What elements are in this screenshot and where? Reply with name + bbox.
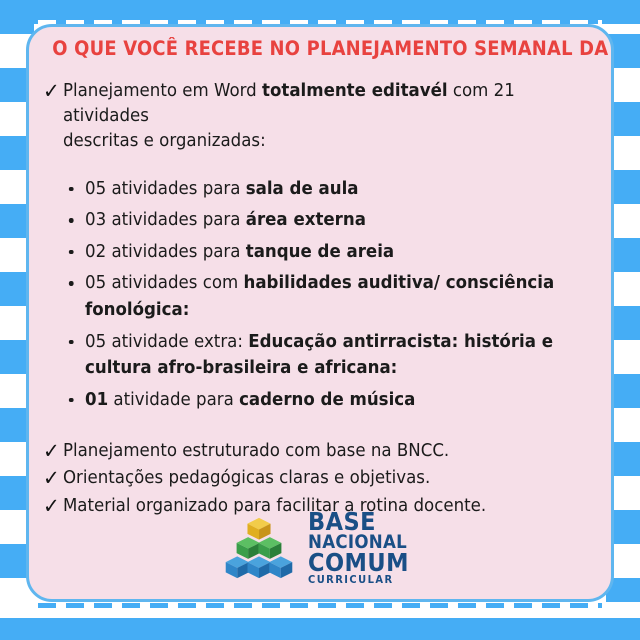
intro-part1: Planejamento em Word (63, 81, 262, 101)
intro-line: ✓ Planejamento em Word totalmente editav… (43, 79, 573, 154)
page-title: O QUE VOCÊ RECEBE NO PLANEJAMENTO SEMANA… (52, 37, 587, 60)
bullet-plain-before: 05 atividades para (85, 179, 246, 199)
bullet-bold: caderno de música (239, 390, 415, 410)
bncc-cube-pyramid-icon (220, 516, 298, 580)
bncc-logo-wordmark: BASE NACIONAL COMUM CURRICULAR (308, 510, 409, 585)
list-item: 03 atividades para área externa (85, 207, 575, 234)
benefit-line: ✓ Orientações pedagógicas claras e objet… (43, 466, 573, 491)
list-item: 05 atividades com habilidades auditiva/ … (85, 270, 575, 323)
bullet-plain-before: 03 atividades para (85, 210, 246, 230)
benefit-text: Orientações pedagógicas claras e objetiv… (63, 466, 573, 491)
poster-canvas: O QUE VOCÊ RECEBE NO PLANEJAMENTO SEMANA… (0, 0, 640, 640)
logo-line-comum: COMUM (308, 551, 409, 575)
intro-bold1: totalmente editavél (262, 81, 448, 101)
intro-line2: descritas e organizadas: (63, 131, 266, 151)
intro-block: ✓ Planejamento em Word totalmente editav… (43, 79, 601, 154)
bullet-plain-before: 05 atividade extra: (85, 332, 248, 352)
check-mark-icon: ✓ (43, 79, 62, 104)
list-item: 02 atividades para tanque de areia (85, 239, 575, 266)
bullet-bold: área externa (246, 210, 366, 230)
bncc-logo: BASE NACIONAL COMUM CURRICULAR (29, 510, 611, 585)
bullet-plain-before: 05 atividades com (85, 273, 243, 293)
bullet-plain-before: 02 atividades para (85, 242, 246, 262)
list-item: 05 atividade extra: Educação antirracist… (85, 329, 575, 382)
content-card: O QUE VOCÊ RECEBE NO PLANEJAMENTO SEMANA… (26, 24, 614, 602)
bottom-blue-band (0, 618, 640, 640)
check-mark-icon: ✓ (43, 466, 62, 491)
benefit-line: ✓ Planejamento estruturado com base na B… (43, 439, 573, 464)
bullet-bold-lead: 01 (85, 390, 108, 410)
intro-text: Planejamento em Word totalmente editavél… (63, 79, 573, 154)
list-item: 05 atividades para sala de aula (85, 176, 575, 203)
bottom-dashed-line (38, 603, 602, 608)
bullet-bold: tanque de areia (246, 242, 394, 262)
card-body: ✓ Planejamento em Word totalmente editav… (29, 79, 614, 521)
activities-list: 05 atividades para sala de aula 03 ativi… (43, 176, 601, 414)
logo-line-base: BASE (308, 510, 409, 534)
benefit-text: Planejamento estruturado com base na BNC… (63, 439, 573, 464)
bullet-bold: sala de aula (246, 179, 359, 199)
bullet-plain-before: atividade para (108, 390, 239, 410)
check-mark-icon: ✓ (43, 439, 62, 464)
list-item: 01 atividade para caderno de música (85, 387, 575, 414)
